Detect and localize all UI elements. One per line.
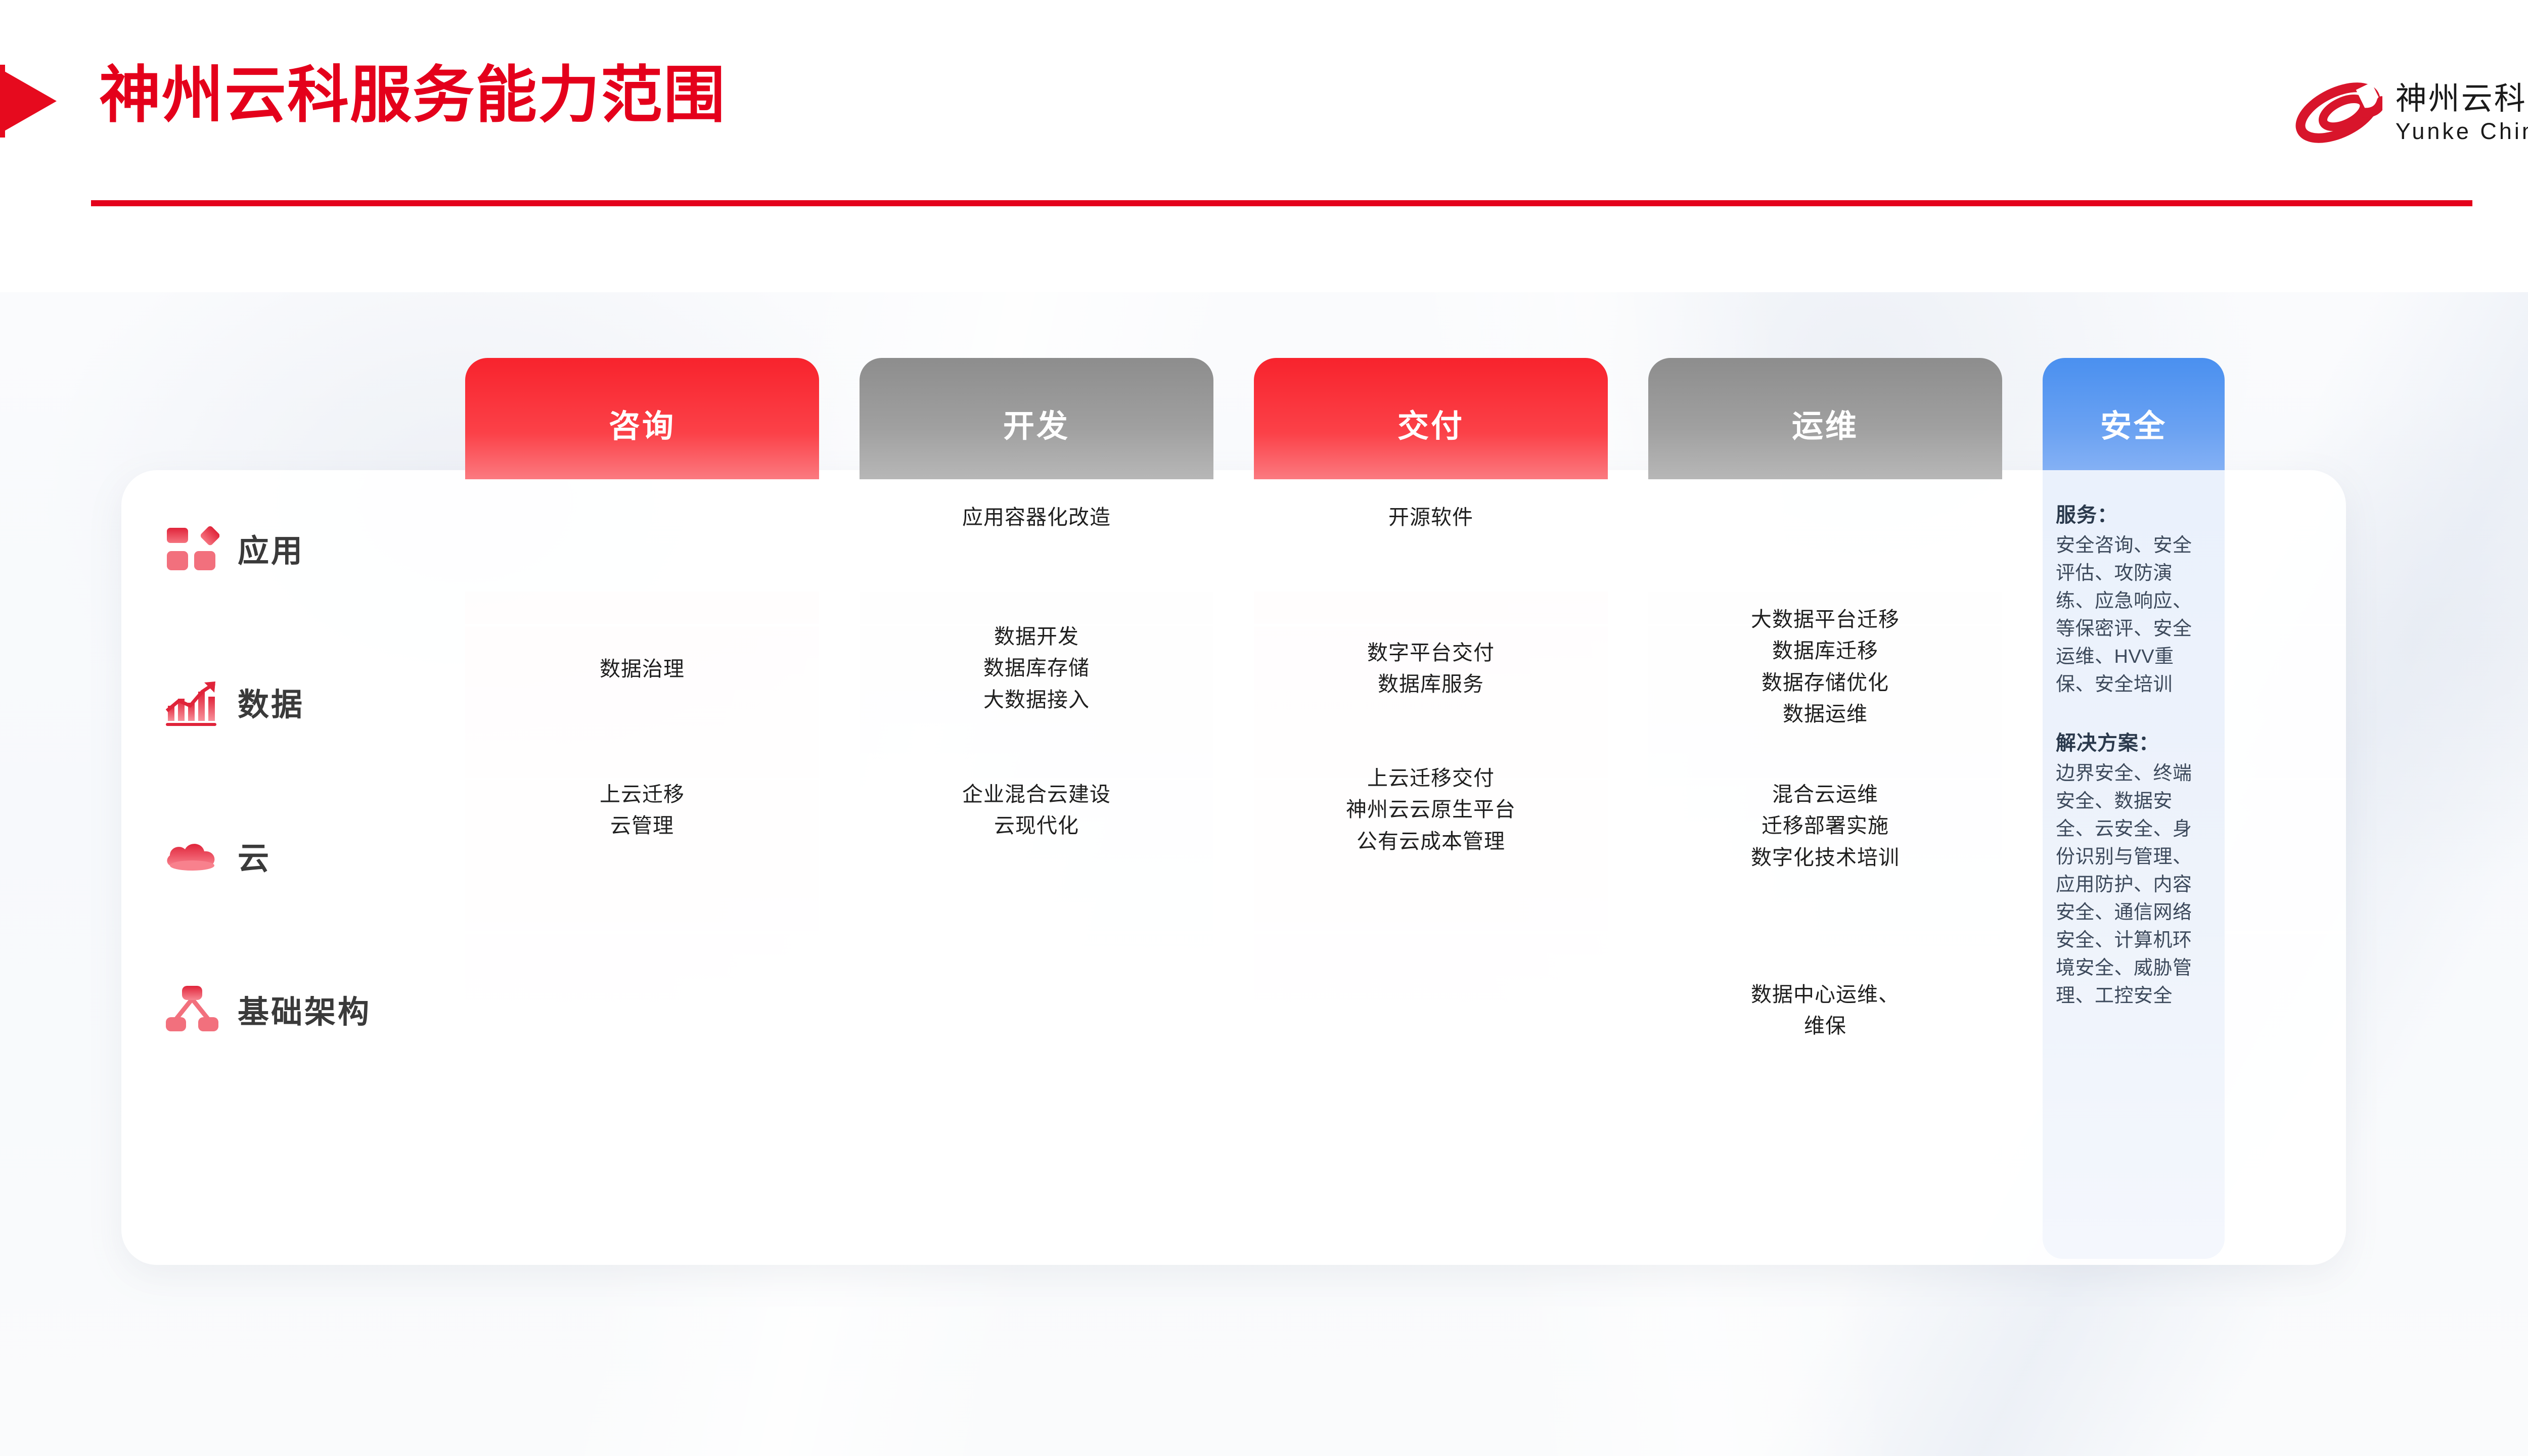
cell-cloud-operations: 混合云运维迁移部署实施数字化技术培训 [1648, 779, 2002, 873]
row-label-text-cloud: 云 [238, 833, 271, 878]
cell-cloud-development: 企业混合云建设云现代化 [860, 779, 1213, 842]
security-solutions-title: 解决方案： [2056, 726, 2210, 756]
column-header-operations[interactable]: 运维 [1648, 358, 2002, 479]
header-arrow-icon [0, 65, 57, 138]
cell-cloud-delivery: 上云迁移交付神州云云原生平台公有云成本管理 [1254, 762, 1608, 857]
row-label-data: 数据 [165, 674, 304, 729]
column-header-delivery[interactable]: 交付 [1254, 358, 1608, 479]
column-header-development[interactable]: 开发 [860, 358, 1213, 479]
column-header-security[interactable]: 安全 [2043, 358, 2225, 479]
cell-data-operations: 大数据平台迁移数据库迁移数据存储优化数据运维 [1648, 604, 2002, 730]
security-services-body: 安全咨询、安全评估、攻防演练、应急响应、等保密评、安全运维、HVV重保、安全培训 [2056, 532, 2210, 699]
row-label-app: 应用 [165, 521, 304, 575]
yunke-swirl-icon [2293, 75, 2382, 151]
bar-chart-icon [165, 674, 219, 729]
app-grid-icon [165, 521, 219, 575]
cloud-icon [165, 828, 219, 883]
cell-data-consulting: 数据治理 [465, 653, 819, 685]
security-services-title: 服务： [2056, 498, 2210, 528]
row-label-cloud: 云 [165, 828, 271, 883]
title-underline [91, 200, 2472, 206]
cell-app-delivery: 开源软件 [1254, 502, 1608, 533]
cell-infra-operations: 数据中心运维、维保 [1648, 979, 2002, 1042]
page-header: 神州云科服务能力范围 神州云科 Yunke China [0, 0, 2528, 292]
capability-matrix: 咨询 开发 交付 运维 安全 服务： 安全咨询、安全评估、攻防演练、应急响应、等… [0, 292, 2528, 1456]
matrix-rows: 应用 [121, 470, 2346, 1265]
brand-logo: 神州云科 Yunke China [2293, 75, 2528, 151]
network-nodes-icon [165, 982, 219, 1036]
cell-data-development: 数据开发数据库存储大数据接入 [860, 621, 1213, 715]
security-solutions-body: 边界安全、终端安全、数据安全、云安全、身份识别与管理、应用防护、内容安全、通信网… [2056, 760, 2210, 1011]
cell-app-development: 应用容器化改造 [860, 502, 1213, 533]
row-label-text-infra: 基础架构 [238, 986, 371, 1032]
row-label-text-app: 应用 [238, 525, 304, 571]
security-panel: 服务： 安全咨询、安全评估、攻防演练、应急响应、等保密评、安全运维、HVV重保、… [2043, 470, 2225, 1259]
cell-data-delivery: 数字平台交付数据库服务 [1254, 637, 1608, 700]
page-title: 神州云科服务能力范围 [99, 60, 726, 130]
column-header-consulting[interactable]: 咨询 [465, 358, 819, 479]
content-stage: 咨询 开发 交付 运维 安全 服务： 安全咨询、安全评估、攻防演练、应急响应、等… [0, 292, 2528, 1456]
cell-cloud-consulting: 上云迁移云管理 [465, 779, 819, 842]
row-label-infra: 基础架构 [165, 982, 371, 1036]
logo-english-name: Yunke China [2396, 120, 2528, 143]
row-label-text-data: 数据 [238, 679, 304, 724]
security-services-block: 服务： 安全咨询、安全评估、攻防演练、应急响应、等保密评、安全运维、HVV重保、… [2056, 498, 2210, 699]
logo-chinese-name: 神州云科 [2396, 83, 2528, 115]
security-solutions-block: 解决方案： 边界安全、终端安全、数据安全、云安全、身份识别与管理、应用防护、内容… [2056, 726, 2210, 1011]
